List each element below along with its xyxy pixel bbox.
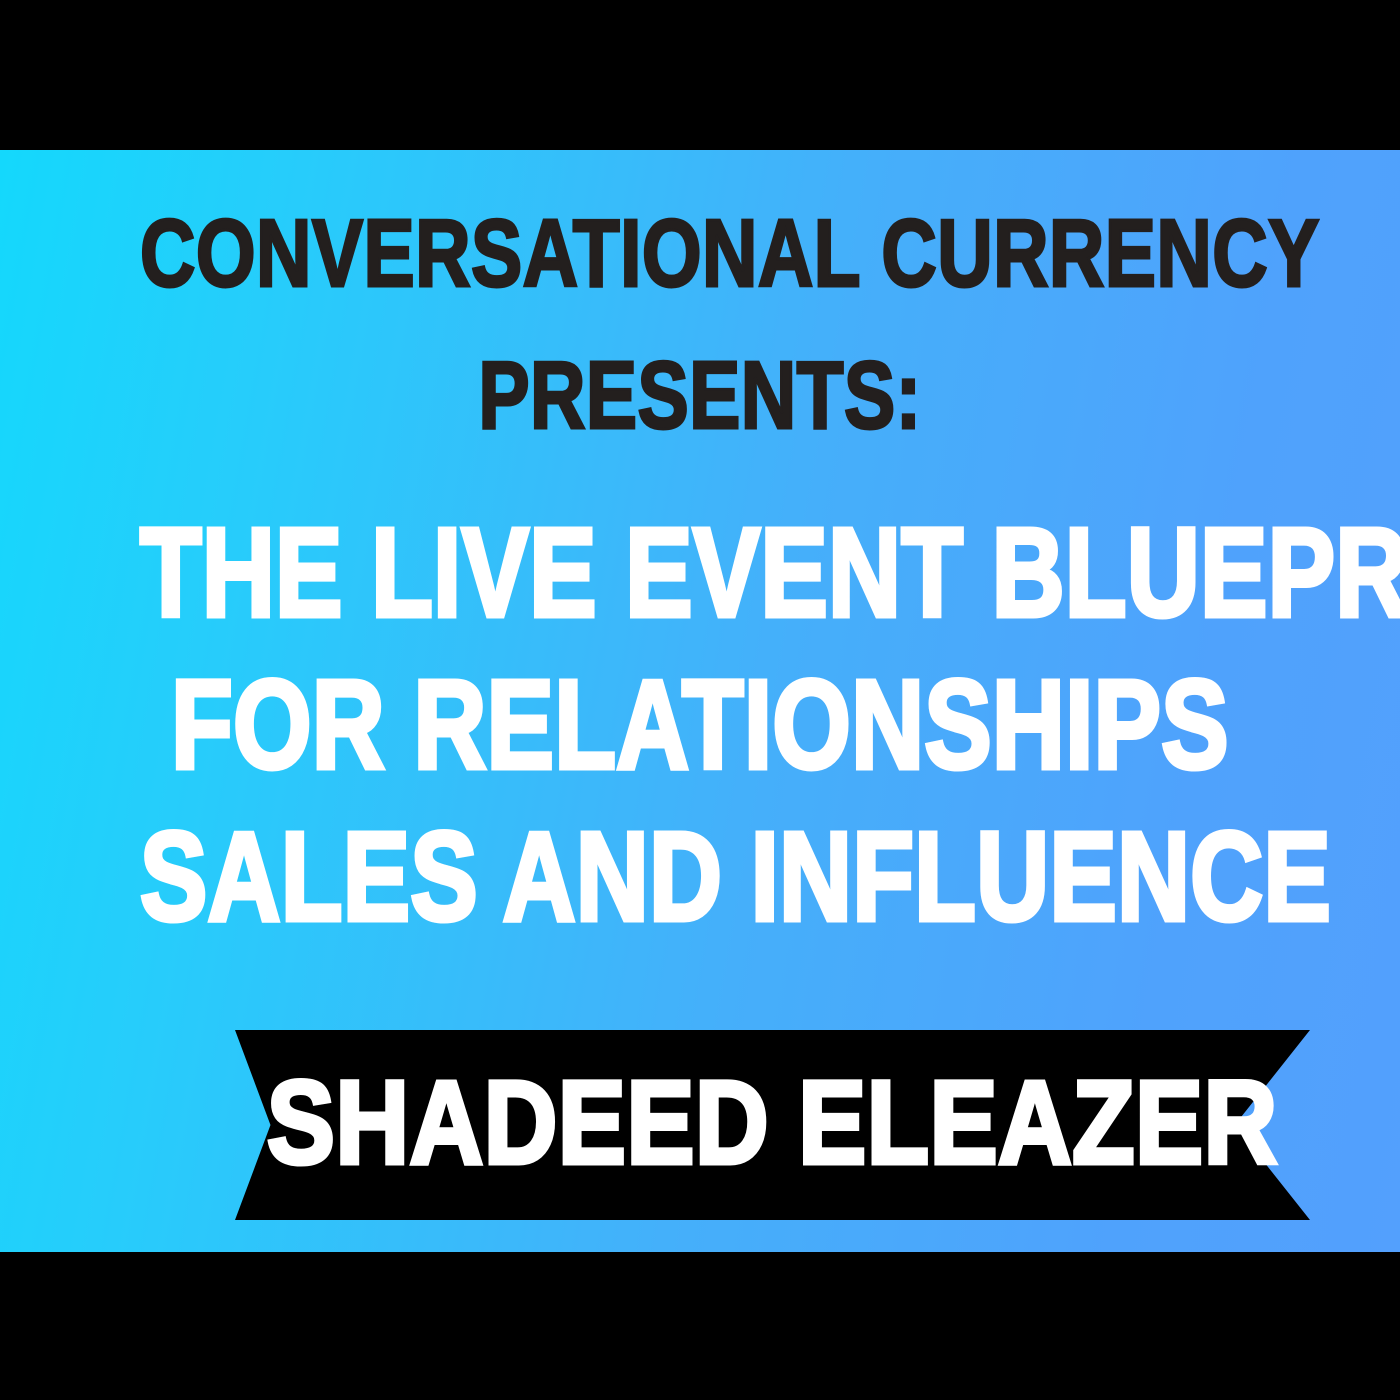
podcast-cover-art: CONVERSATIONAL CURRENCY PRESENTS: THE LI…	[0, 0, 1400, 1400]
letterbox-bar-bottom	[0, 1252, 1400, 1400]
title-line-2: FOR RELATIONSHIPS	[140, 662, 1260, 788]
letterbox-bar-top	[0, 0, 1400, 150]
presenter-ribbon: SHADEED ELEAZER	[235, 1030, 1310, 1220]
presents-label: PRESENTS:	[140, 348, 1260, 444]
presenter-name: SHADEED ELEAZER	[310, 1030, 1235, 1220]
title-line-1: THE LIVE EVENT BLUEPRINT	[140, 510, 1260, 636]
title-line-3: SALES AND INFLUENCE	[140, 814, 1260, 940]
brand-name-line: CONVERSATIONAL CURRENCY	[140, 206, 1260, 302]
